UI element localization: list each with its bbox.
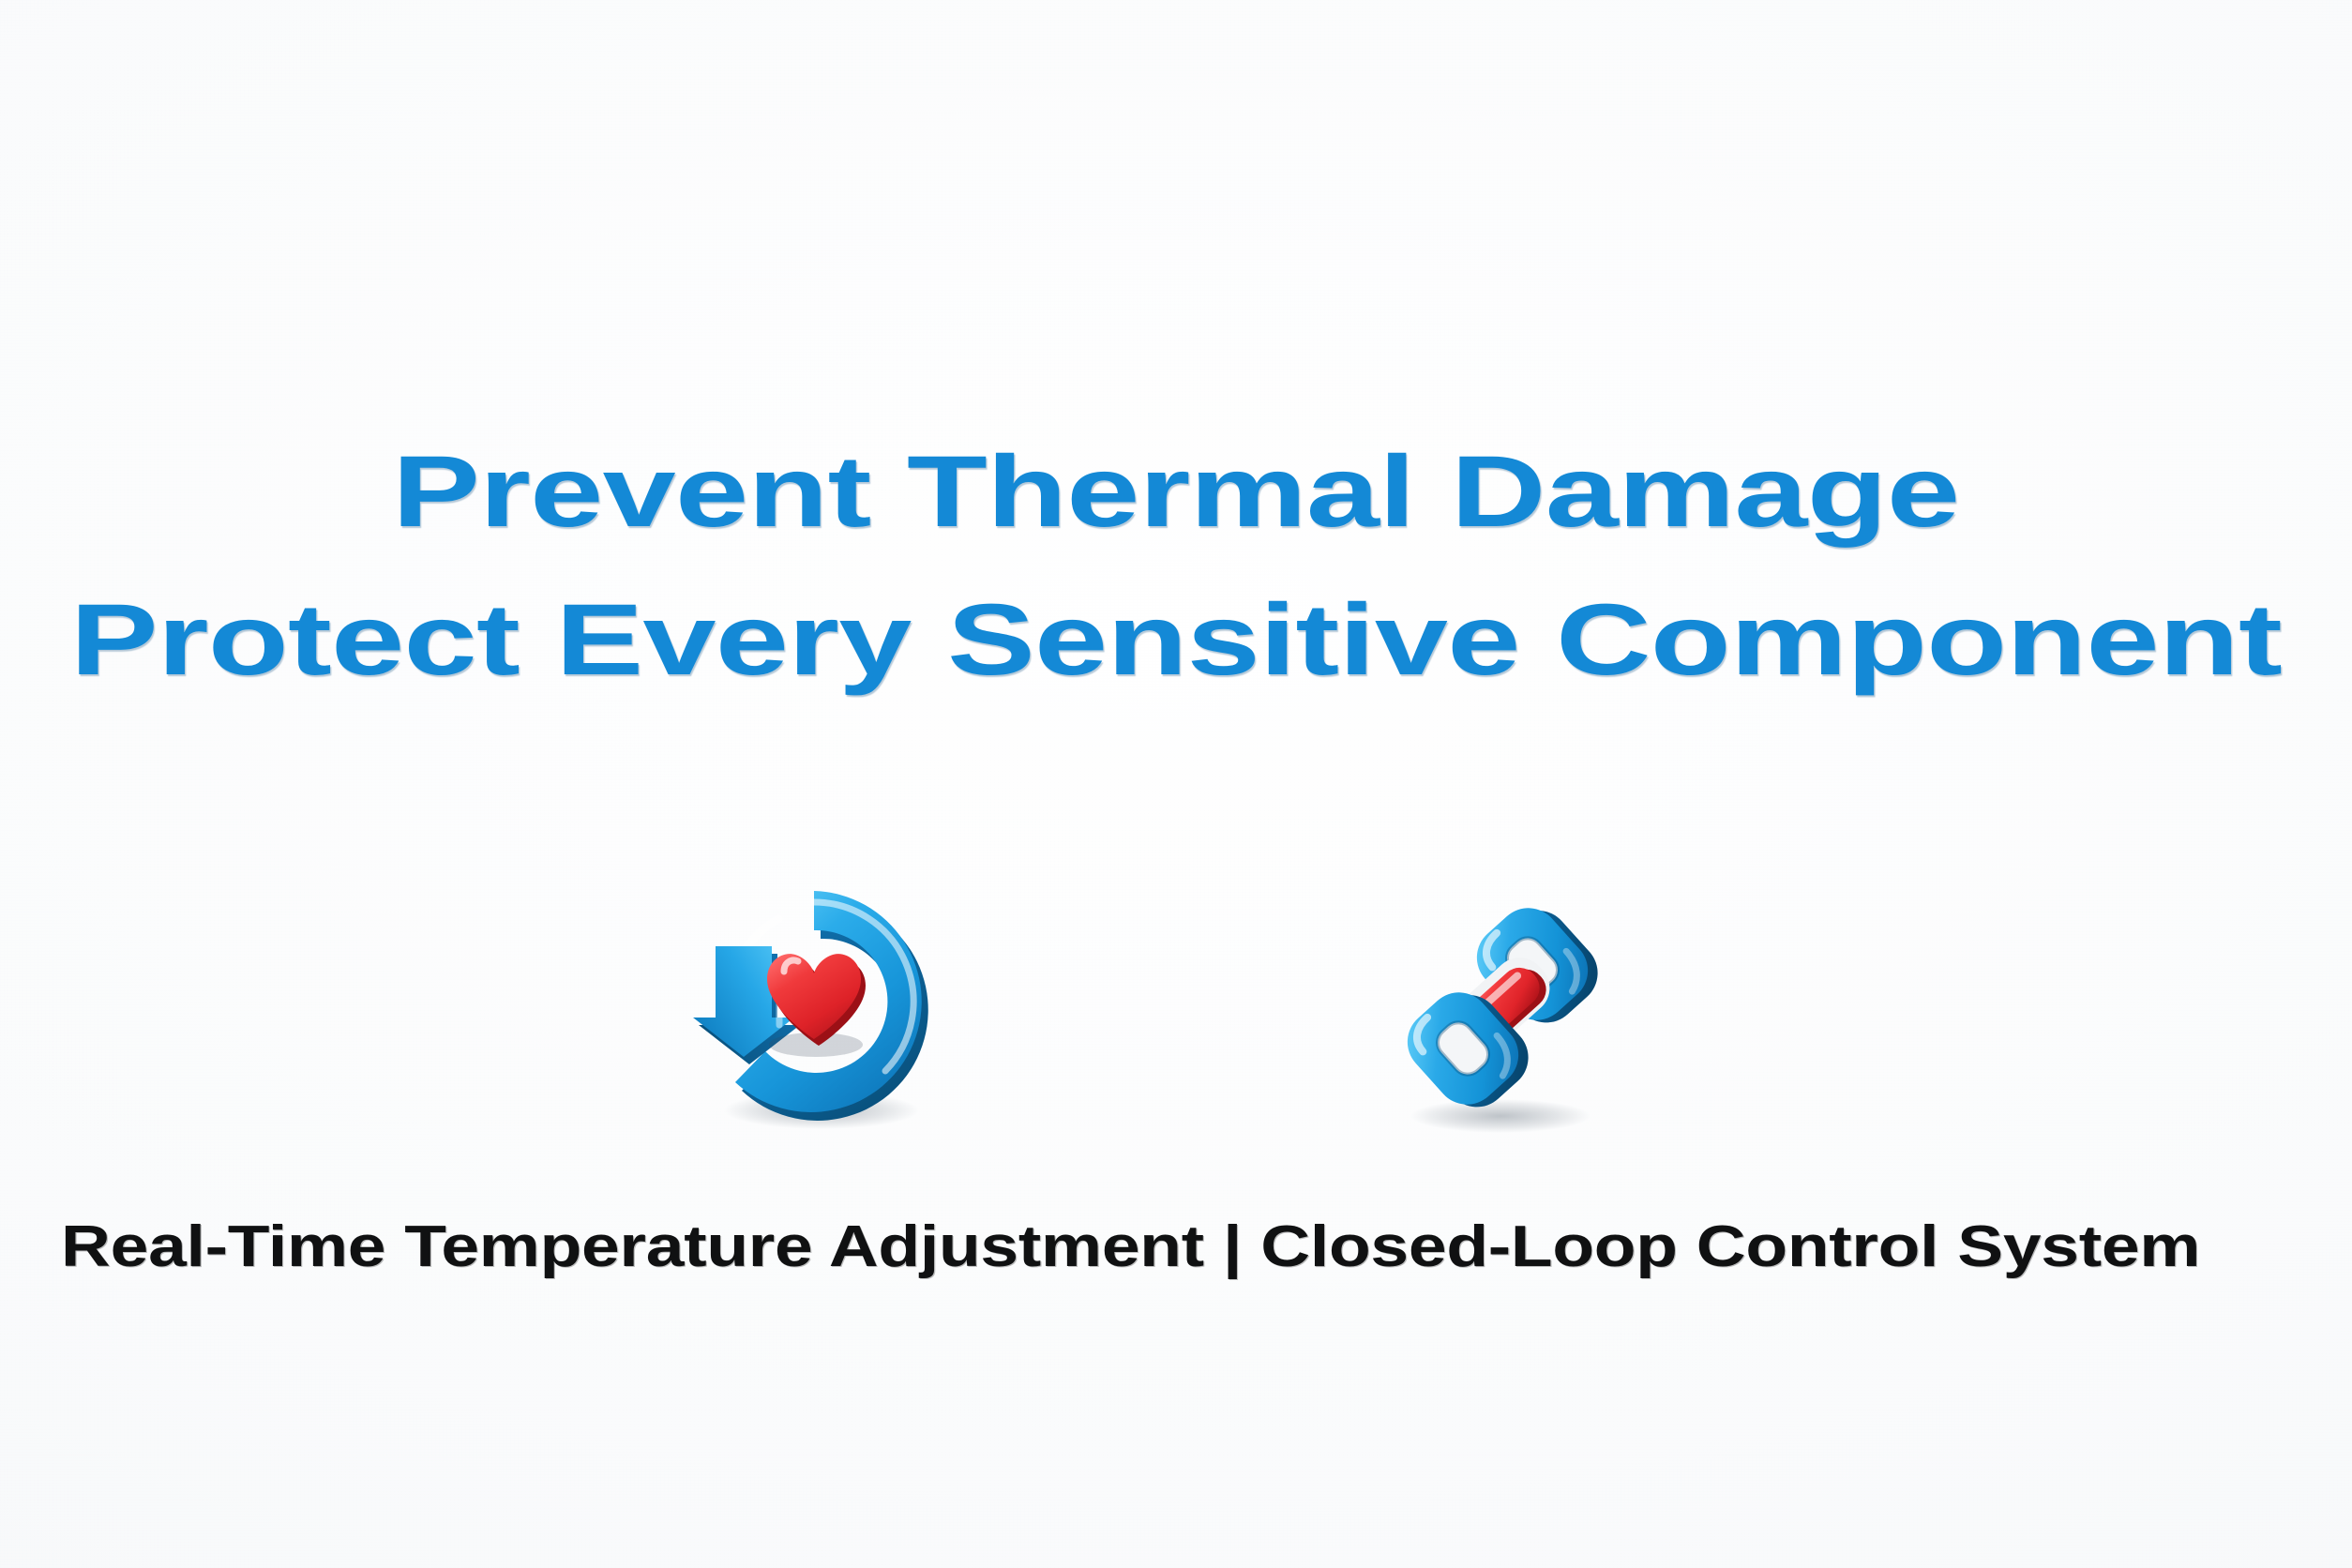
chain-link-icon [1358,865,1639,1146]
loop-heart-icon [673,861,955,1142]
poster-canvas: Prevent Thermal Damage Protect Every Sen… [0,0,2352,1568]
headline-line-1-text: Prevent Thermal Damage [392,441,1959,542]
caption: Real-Time Temperature Adjustment | Close… [0,1217,2352,1277]
headline-line-1: Prevent Thermal Damage [0,441,2352,542]
paper-texture-overlay [0,0,2352,1568]
headline-line-2-text: Protect Every Sensitive Component [70,589,2282,690]
icon-row [0,844,2352,1153]
caption-text: Real-Time Temperature Adjustment | Close… [61,1217,2200,1277]
headline-line-2: Protect Every Sensitive Component [0,589,2352,690]
